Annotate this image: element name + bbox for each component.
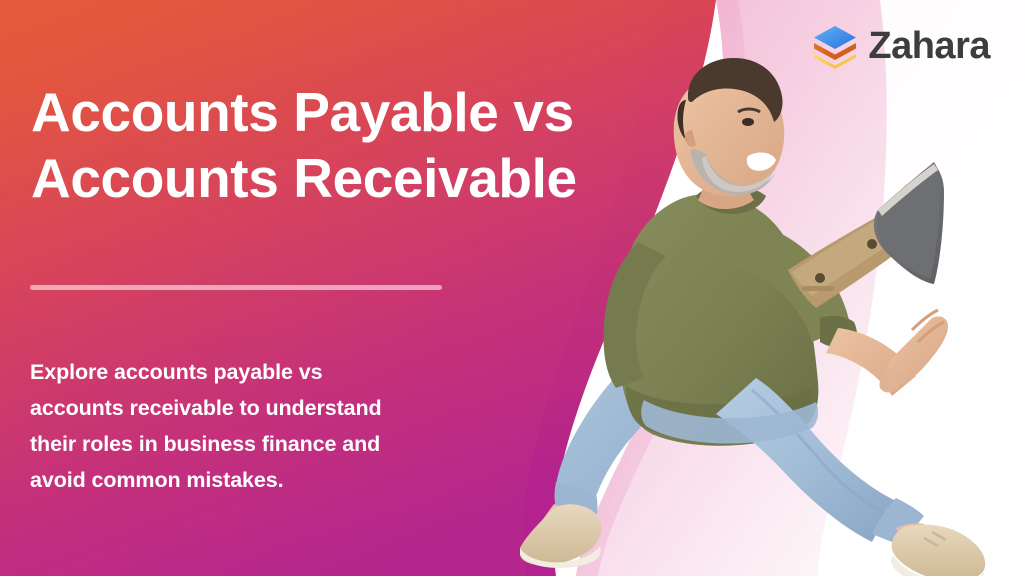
brand-wordmark: Zahara [868, 27, 990, 65]
hero-banner: Accounts Payable vs Accounts Receivable … [0, 0, 1024, 576]
stacked-layers-icon [813, 23, 857, 69]
brand-logo[interactable]: Zahara [813, 23, 990, 69]
hero-illustration [520, 30, 990, 576]
hero-description: Explore accounts payable vs accounts rec… [30, 354, 402, 498]
page-title: Accounts Payable vs Accounts Receivable [31, 79, 591, 211]
divider [30, 285, 442, 290]
